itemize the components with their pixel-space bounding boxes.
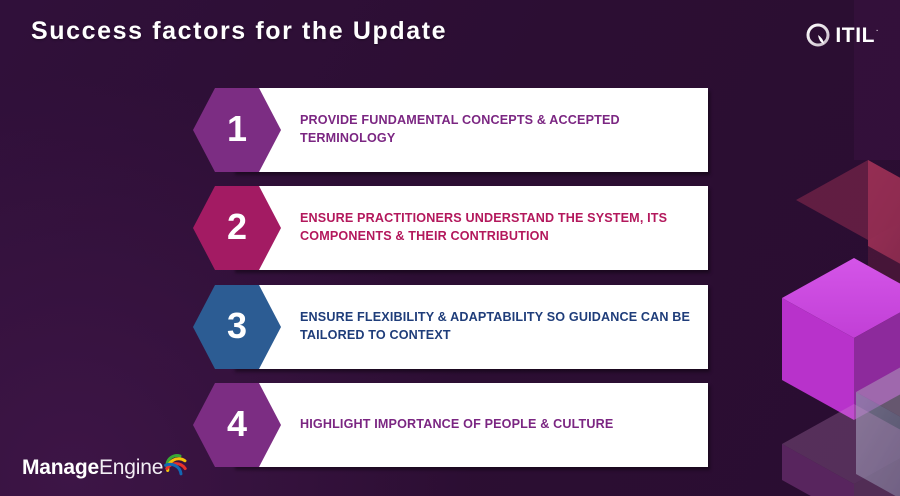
factor-text-4: Highlight importance of people & culture bbox=[300, 383, 692, 467]
factor-number-1: 1 bbox=[227, 111, 247, 147]
factor-row-3: Ensure flexibility & adaptability so gui… bbox=[193, 285, 708, 369]
slide-canvas: Success factors for the Update ITIL· Pro… bbox=[0, 0, 900, 496]
factor-number-2: 2 bbox=[227, 209, 247, 245]
manageengine-light-text: Engine bbox=[99, 456, 163, 480]
factor-text-2: Ensure practitioners understand the syst… bbox=[300, 186, 692, 270]
factor-row-4: Highlight importance of people & culture… bbox=[193, 383, 708, 467]
factor-number-4: 4 bbox=[227, 406, 247, 442]
factor-row-2: Ensure practitioners understand the syst… bbox=[193, 186, 708, 270]
manageengine-logo: ManageEngine bbox=[22, 450, 188, 480]
factor-text-3: Ensure flexibility & adaptability so gui… bbox=[300, 285, 692, 369]
success-factors-list: Provide fundamental concepts & accepted … bbox=[0, 0, 900, 496]
manageengine-swoosh-icon bbox=[164, 453, 188, 477]
factor-text-1: Provide fundamental concepts & accepted … bbox=[300, 88, 692, 172]
factor-row-1: Provide fundamental concepts & accepted … bbox=[193, 88, 708, 172]
manageengine-bold-text: Manage bbox=[22, 456, 99, 480]
factor-number-3: 3 bbox=[227, 308, 247, 344]
